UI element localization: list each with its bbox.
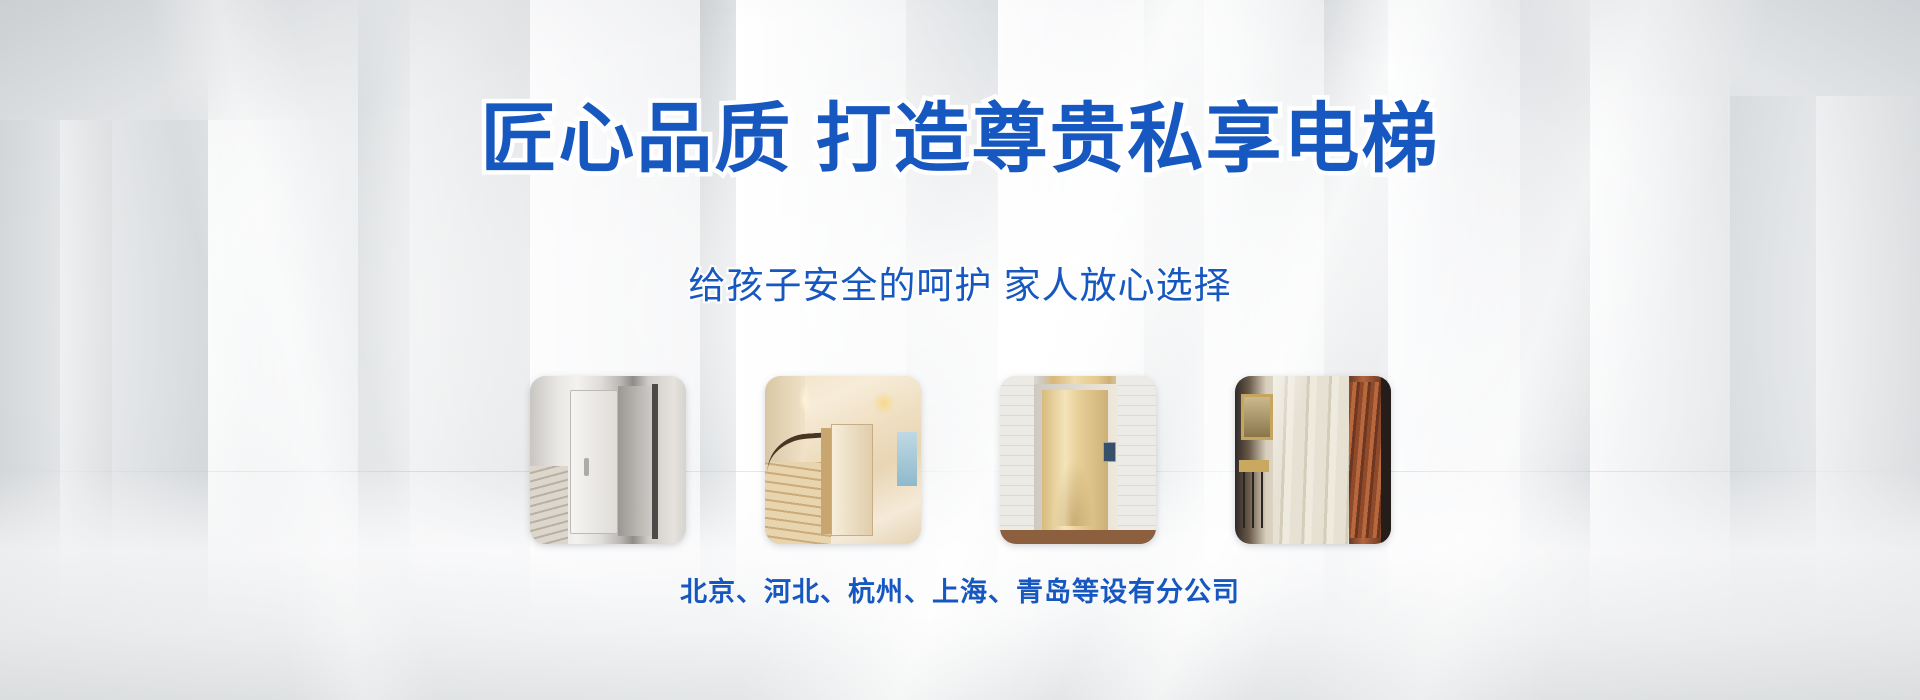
elevator-door-detail (618, 386, 652, 536)
product-photo-gallery (0, 376, 1920, 544)
marble-panel-detail (1273, 376, 1349, 544)
control-panel-detail (1103, 442, 1116, 462)
gallery-photo-silver-home-elevator-with-staircase[interactable] (530, 376, 686, 544)
brick-wall-detail (1000, 376, 1034, 544)
brick-wall-detail (1116, 376, 1156, 544)
promo-banner: 匠心品质 打造尊贵私享电梯 给孩子安全的呵护 家人放心选择 (0, 0, 1920, 700)
wall-light-detail (799, 384, 811, 414)
rail-detail (652, 384, 658, 539)
console-table-detail (1239, 460, 1269, 472)
table-legs-detail (1243, 472, 1265, 528)
branch-offices-caption: 北京、河北、杭州、上海、青岛等设有分公司 (0, 574, 1920, 610)
chandelier-detail (871, 392, 897, 414)
framed-mirror-detail (1241, 394, 1273, 440)
gallery-photo-marble-and-gold-luxury-elevator-lobby[interactable] (1235, 376, 1391, 544)
etched-pattern-detail (1052, 450, 1096, 526)
banner-headline: 匠心品质 打造尊贵私享电梯 (0, 96, 1920, 184)
banner-subtitle: 给孩子安全的呵护 家人放心选择 (0, 263, 1920, 309)
elevator-door-detail (831, 424, 873, 536)
window-detail (897, 432, 917, 486)
gallery-photo-gold-door-elevator-white-brick-wall[interactable] (1000, 376, 1156, 544)
gallery-photo-cream-hallway-elevator-with-staircase[interactable] (765, 376, 921, 544)
staircase-detail (530, 466, 568, 544)
elevator-door-detail (570, 390, 618, 534)
banner-content: 匠心品质 打造尊贵私享电梯 给孩子安全的呵护 家人放心选择 (0, 0, 1920, 700)
wood-floor-detail (1000, 530, 1156, 544)
wood-panel-detail (1349, 382, 1383, 538)
call-button-detail (584, 458, 589, 476)
shadow-edge-detail (1381, 376, 1391, 544)
